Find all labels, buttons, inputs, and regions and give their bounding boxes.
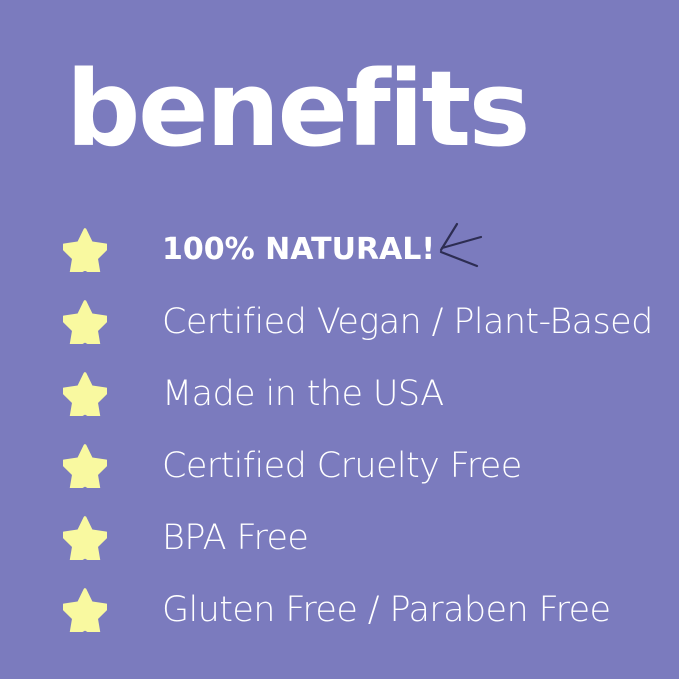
star-cell <box>0 300 162 344</box>
list-item: Gluten Free / Paraben Free <box>0 574 679 646</box>
list-item-label: Certified Vegan / Plant-Based <box>162 304 653 341</box>
label-wrap: Certified Vegan / Plant-Based <box>162 304 653 341</box>
star-icon <box>63 300 107 344</box>
benefits-poster: benefits 100% NATURAL! <box>0 0 679 679</box>
list-item: Certified Cruelty Free <box>0 430 679 502</box>
list-item-label: Certified Cruelty Free <box>162 448 522 485</box>
list-item-label: Gluten Free / Paraben Free <box>162 592 610 629</box>
star-icon <box>63 516 107 560</box>
star-cell <box>0 444 162 488</box>
sparkle-icon <box>437 218 485 270</box>
label-wrap: Certified Cruelty Free <box>162 448 522 485</box>
star-cell <box>0 588 162 632</box>
label-wrap: Made in the USA <box>162 376 444 413</box>
star-cell <box>0 228 162 272</box>
list-item: Made in the USA <box>0 358 679 430</box>
star-cell <box>0 372 162 416</box>
list-item: 100% NATURAL! <box>0 214 679 286</box>
star-icon <box>63 588 107 632</box>
list-item-label: Made in the USA <box>162 376 444 413</box>
star-cell <box>0 516 162 560</box>
list-item-label: BPA Free <box>162 520 308 557</box>
benefits-list: 100% NATURAL! Certified Vegan / Plant-Ba <box>0 214 679 646</box>
star-icon <box>63 444 107 488</box>
list-item-label: 100% NATURAL! <box>162 234 435 266</box>
star-icon <box>63 372 107 416</box>
list-item: Certified Vegan / Plant-Based <box>0 286 679 358</box>
list-item: BPA Free <box>0 502 679 574</box>
label-wrap: 100% NATURAL! <box>162 230 485 270</box>
star-icon <box>63 228 107 272</box>
label-wrap: BPA Free <box>162 520 308 557</box>
page-title: benefits <box>66 57 528 161</box>
label-wrap: Gluten Free / Paraben Free <box>162 592 610 629</box>
